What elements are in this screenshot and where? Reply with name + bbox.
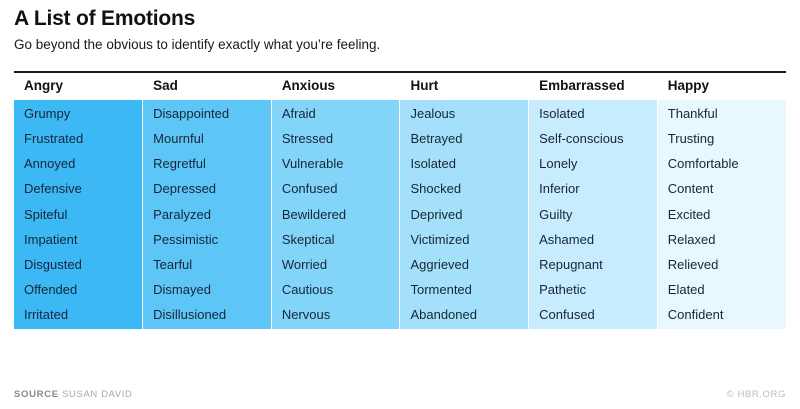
emotion-cell: Vulnerable: [271, 152, 400, 177]
emotion-cell: Spiteful: [14, 202, 143, 227]
table-row: DisgustedTearfulWorriedAggrievedRepugnan…: [14, 252, 786, 277]
emotion-cell: Disappointed: [143, 100, 272, 126]
emotion-cell: Jealous: [400, 100, 529, 126]
emotion-cell: Aggrieved: [400, 252, 529, 277]
column-header-anxious: Anxious: [271, 72, 400, 100]
column-header-angry: Angry: [14, 72, 143, 100]
emotions-table-container: AngrySadAnxiousHurtEmbarrassedHappy Grum…: [14, 71, 786, 328]
page-subtitle: Go beyond the obvious to identify exactl…: [14, 31, 786, 53]
emotion-cell: Impatient: [14, 227, 143, 252]
emotion-cell: Relieved: [657, 252, 786, 277]
emotion-cell: Disgusted: [14, 252, 143, 277]
page-title: A List of Emotions: [14, 0, 786, 31]
emotion-cell: Defensive: [14, 177, 143, 202]
credit-label: © HBR.ORG: [727, 389, 786, 400]
table-row: FrustratedMournfulStressedBetrayedSelf-c…: [14, 127, 786, 152]
emotion-cell: Self-conscious: [529, 127, 658, 152]
column-header-hurt: Hurt: [400, 72, 529, 100]
emotion-cell: Disillusioned: [143, 302, 272, 328]
emotion-cell: Excited: [657, 202, 786, 227]
emotion-cell: Offended: [14, 277, 143, 302]
emotion-cell: Shocked: [400, 177, 529, 202]
emotion-cell: Paralyzed: [143, 202, 272, 227]
emotion-cell: Guilty: [529, 202, 658, 227]
emotion-cell: Trusting: [657, 127, 786, 152]
emotion-cell: Confident: [657, 302, 786, 328]
emotion-cell: Irritated: [14, 302, 143, 328]
footer: SOURCE SUSAN DAVID © HBR.ORG: [14, 389, 786, 400]
source-label: SOURCE: [14, 389, 59, 400]
emotions-table: AngrySadAnxiousHurtEmbarrassedHappy Grum…: [14, 71, 786, 328]
emotion-cell: Tearful: [143, 252, 272, 277]
emotion-cell: Deprived: [400, 202, 529, 227]
emotion-cell: Repugnant: [529, 252, 658, 277]
emotion-cell: Lonely: [529, 152, 658, 177]
table-row: DefensiveDepressedConfusedShockedInferio…: [14, 177, 786, 202]
table-header-row: AngrySadAnxiousHurtEmbarrassedHappy: [14, 72, 786, 100]
emotion-cell: Depressed: [143, 177, 272, 202]
emotion-cell: Grumpy: [14, 100, 143, 126]
emotion-cell: Mournful: [143, 127, 272, 152]
emotion-cell: Frustrated: [14, 127, 143, 152]
emotion-cell: Confused: [271, 177, 400, 202]
emotion-cell: Content: [657, 177, 786, 202]
emotion-cell: Worried: [271, 252, 400, 277]
table-row: OffendedDismayedCautiousTormentedPatheti…: [14, 277, 786, 302]
table-row: GrumpyDisappointedAfraidJealousIsolatedT…: [14, 100, 786, 126]
emotion-cell: Ashamed: [529, 227, 658, 252]
emotion-cell: Comfortable: [657, 152, 786, 177]
emotion-cell: Nervous: [271, 302, 400, 328]
source-line: SOURCE SUSAN DAVID: [14, 389, 132, 400]
emotion-cell: Regretful: [143, 152, 272, 177]
table-row: ImpatientPessimisticSkepticalVictimizedA…: [14, 227, 786, 252]
emotion-cell: Annoyed: [14, 152, 143, 177]
emotion-cell: Bewildered: [271, 202, 400, 227]
emotion-cell: Victimized: [400, 227, 529, 252]
emotion-cell: Abandoned: [400, 302, 529, 328]
emotion-cell: Isolated: [400, 152, 529, 177]
column-header-happy: Happy: [657, 72, 786, 100]
emotion-cell: Dismayed: [143, 277, 272, 302]
emotion-cell: Stressed: [271, 127, 400, 152]
emotion-cell: Inferior: [529, 177, 658, 202]
table-row: AnnoyedRegretfulVulnerableIsolatedLonely…: [14, 152, 786, 177]
column-header-embarrassed: Embarrassed: [529, 72, 658, 100]
emotion-cell: Cautious: [271, 277, 400, 302]
table-header: AngrySadAnxiousHurtEmbarrassedHappy: [14, 72, 786, 100]
emotion-cell: Elated: [657, 277, 786, 302]
emotion-cell: Pathetic: [529, 277, 658, 302]
source-name: SUSAN DAVID: [62, 389, 132, 400]
table-body: GrumpyDisappointedAfraidJealousIsolatedT…: [14, 100, 786, 328]
table-row: IrritatedDisillusionedNervousAbandonedCo…: [14, 302, 786, 328]
emotion-cell: Confused: [529, 302, 658, 328]
emotion-cell: Relaxed: [657, 227, 786, 252]
emotion-cell: Pessimistic: [143, 227, 272, 252]
infographic-page: A List of Emotions Go beyond the obvious…: [0, 0, 800, 409]
emotion-cell: Betrayed: [400, 127, 529, 152]
column-header-sad: Sad: [143, 72, 272, 100]
emotion-cell: Skeptical: [271, 227, 400, 252]
emotion-cell: Thankful: [657, 100, 786, 126]
emotion-cell: Afraid: [271, 100, 400, 126]
emotion-cell: Tormented: [400, 277, 529, 302]
emotion-cell: Isolated: [529, 100, 658, 126]
table-row: SpitefulParalyzedBewilderedDeprivedGuilt…: [14, 202, 786, 227]
